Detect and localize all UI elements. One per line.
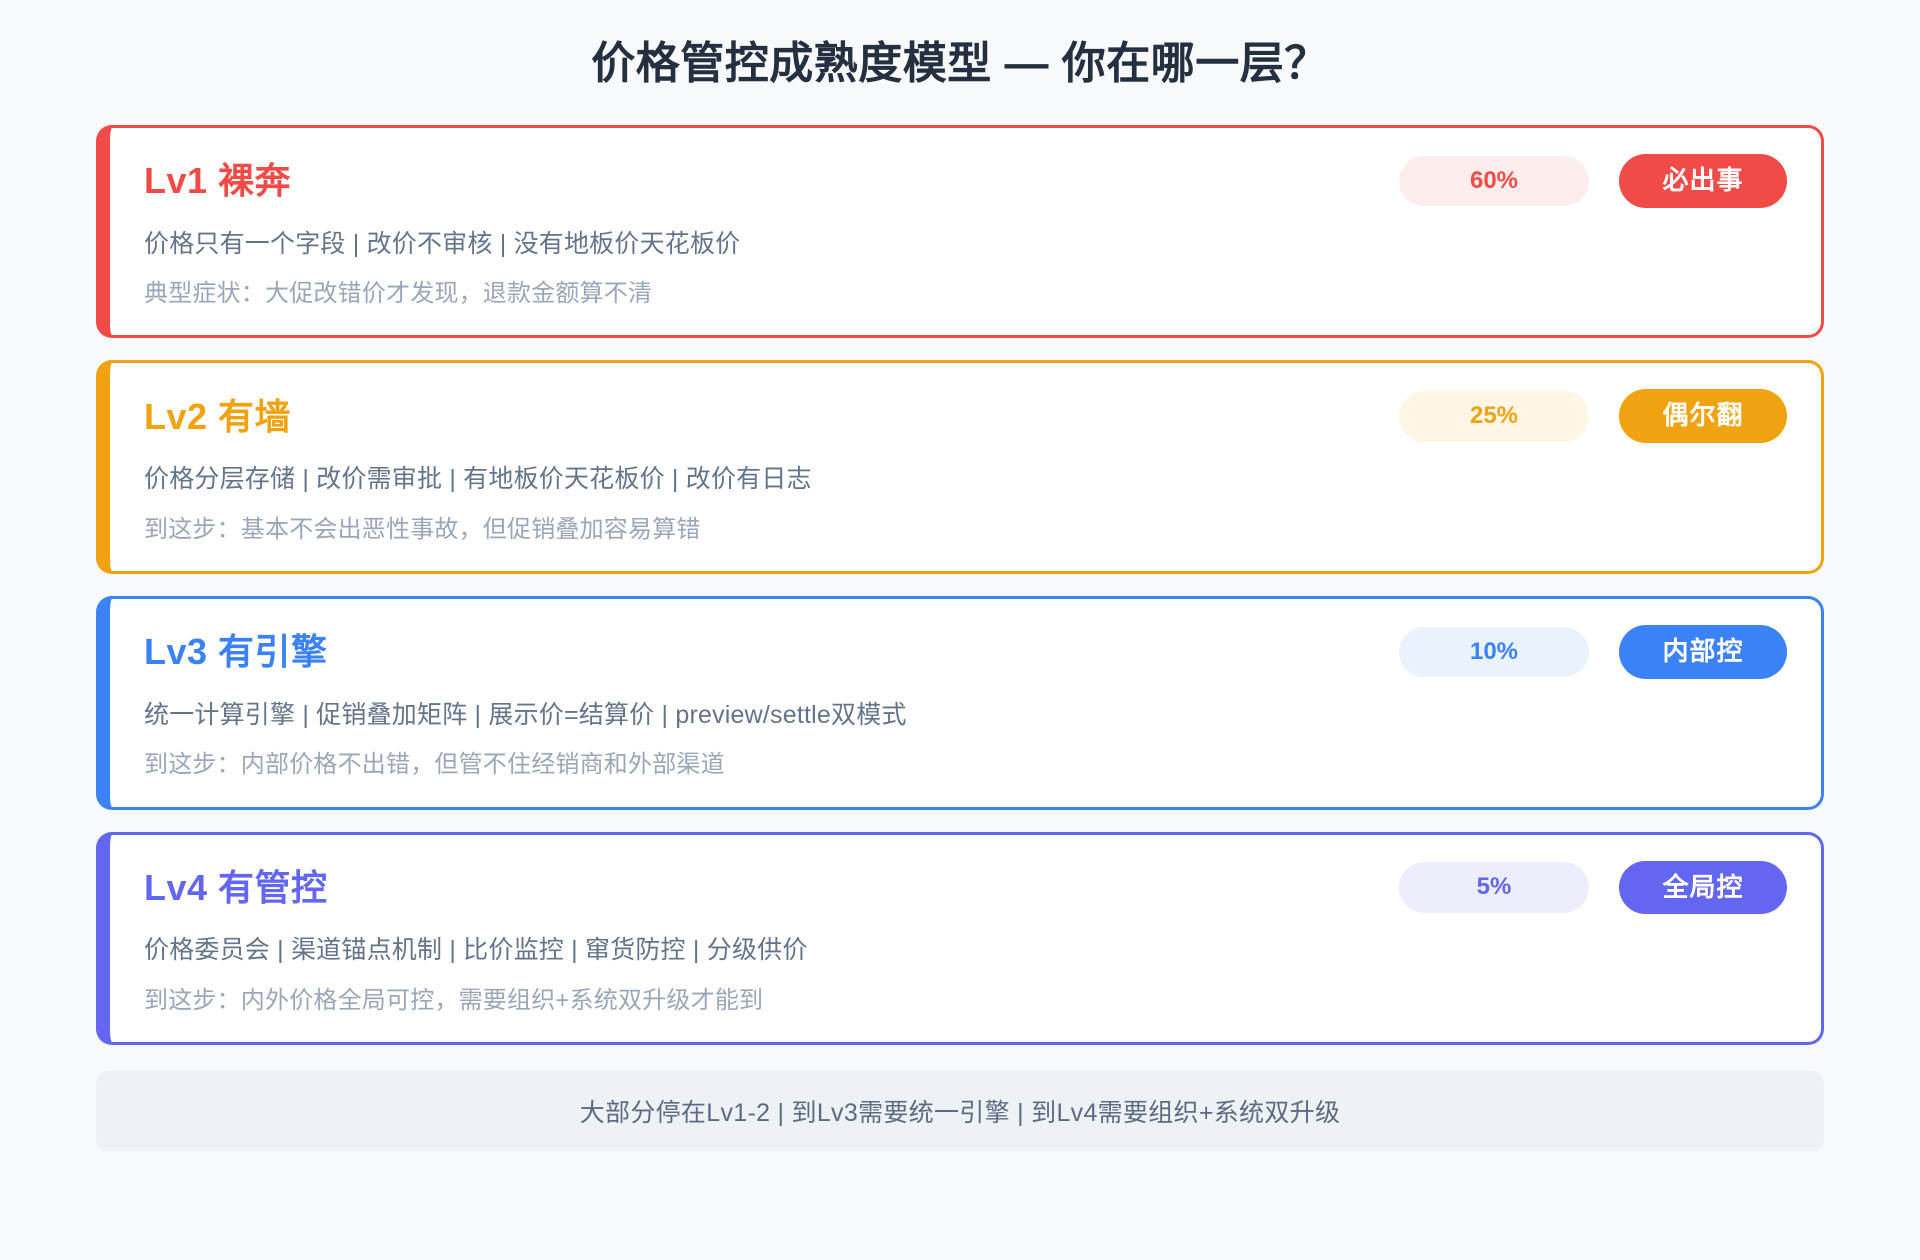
percent-badge: 10%: [1399, 627, 1589, 677]
level-card-lv1[interactable]: Lv1 裸奔 60% 必出事 价格只有一个字段 | 改价不审核 | 没有地板价天…: [96, 125, 1824, 339]
level-header: Lv3 有引擎 10% 内部控: [144, 625, 1787, 679]
level-name: Lv2 有墙: [144, 397, 291, 437]
maturity-model-page: 价格管控成熟度模型 — 你在哪一层？ Lv1 裸奔 60% 必出事 价格只有一个…: [0, 0, 1920, 1260]
percent-badge: 60%: [1399, 156, 1589, 206]
level-header: Lv1 裸奔 60% 必出事: [144, 154, 1787, 208]
level-traits: 价格分层存储 | 改价需审批 | 有地板价天花板价 | 改价有日志: [144, 463, 1787, 496]
level-card-lv3[interactable]: Lv3 有引擎 10% 内部控 统一计算引擎 | 促销叠加矩阵 | 展示价=结算…: [96, 596, 1824, 810]
level-header: Lv4 有管控 5% 全局控: [144, 861, 1787, 915]
page-title: 价格管控成熟度模型 — 你在哪一层？: [96, 0, 1824, 125]
footer-summary: 大部分停在Lv1-2 | 到Lv3需要统一引擎 | 到Lv4需要组织+系统双升级: [96, 1071, 1824, 1151]
level-note: 到这步：内部价格不出错，但管不住经销商和外部渠道: [144, 749, 1787, 780]
level-header: Lv2 有墙 25% 偶尔翻: [144, 389, 1787, 443]
level-note: 到这步：内外价格全局可控，需要组织+系统双升级才能到: [144, 985, 1787, 1016]
level-traits: 价格只有一个字段 | 改价不审核 | 没有地板价天花板价: [144, 228, 1787, 261]
status-badge: 全局控: [1619, 861, 1787, 915]
level-name: Lv1 裸奔: [144, 161, 291, 201]
status-badge: 偶尔翻: [1619, 389, 1787, 443]
percent-badge: 5%: [1399, 862, 1589, 912]
level-name: Lv4 有管控: [144, 868, 328, 908]
level-card-lv2[interactable]: Lv2 有墙 25% 偶尔翻 价格分层存储 | 改价需审批 | 有地板价天花板价…: [96, 360, 1824, 574]
level-traits: 统一计算引擎 | 促销叠加矩阵 | 展示价=结算价 | preview/sett…: [144, 699, 1787, 732]
level-badges: 5% 全局控: [1399, 861, 1787, 915]
status-badge: 内部控: [1619, 625, 1787, 679]
level-card-lv4[interactable]: Lv4 有管控 5% 全局控 价格委员会 | 渠道锚点机制 | 比价监控 | 窜…: [96, 832, 1824, 1046]
level-name: Lv3 有引擎: [144, 632, 328, 672]
level-badges: 60% 必出事: [1399, 154, 1787, 208]
level-note: 典型症状：大促改错价才发现，退款金额算不清: [144, 278, 1787, 309]
level-card-list: Lv1 裸奔 60% 必出事 价格只有一个字段 | 改价不审核 | 没有地板价天…: [96, 125, 1824, 1045]
level-traits: 价格委员会 | 渠道锚点机制 | 比价监控 | 窜货防控 | 分级供价: [144, 934, 1787, 967]
level-badges: 25% 偶尔翻: [1399, 389, 1787, 443]
status-badge: 必出事: [1619, 154, 1787, 208]
level-note: 到这步：基本不会出恶性事故，但促销叠加容易算错: [144, 514, 1787, 545]
level-badges: 10% 内部控: [1399, 625, 1787, 679]
percent-badge: 25%: [1399, 391, 1589, 441]
